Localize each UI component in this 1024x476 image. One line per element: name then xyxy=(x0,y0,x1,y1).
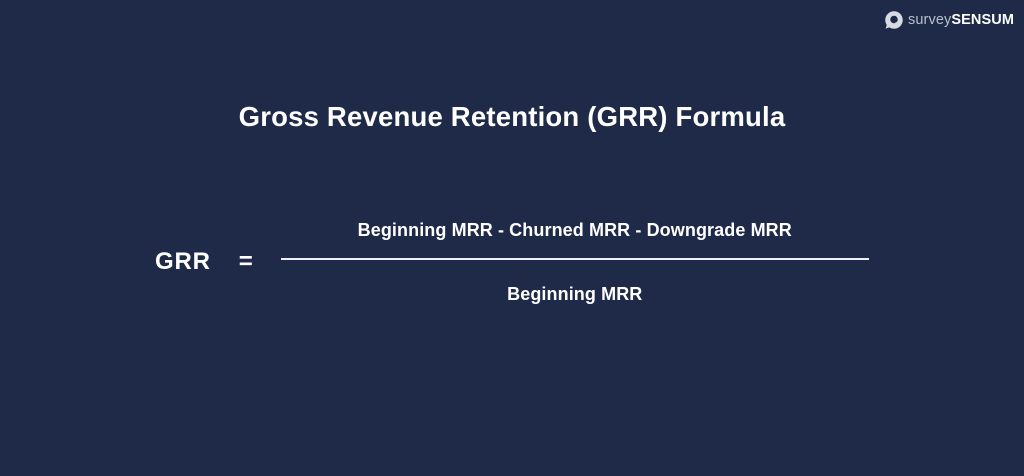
formula-left-side: GRR xyxy=(155,250,211,274)
brand-wordmark-light: survey xyxy=(908,12,951,28)
formula-fraction: Beginning MRR - Churned MRR - Downgrade … xyxy=(281,221,869,303)
formula-equals-sign: = xyxy=(239,250,253,274)
page-title: Gross Revenue Retention (GRR) Formula xyxy=(0,99,1024,135)
formula-denominator: Beginning MRR xyxy=(507,260,642,303)
slide-canvas: surveySENSUM Gross Revenue Retention (GR… xyxy=(0,0,1024,476)
brand-logo: surveySENSUM xyxy=(884,8,1014,32)
grr-formula: GRR = Beginning MRR - Churned MRR - Down… xyxy=(155,206,869,318)
surveysensum-speech-bubble-logo-icon xyxy=(884,10,904,30)
brand-wordmark: surveySENSUM xyxy=(908,13,1014,28)
formula-numerator: Beginning MRR - Churned MRR - Downgrade … xyxy=(358,221,792,258)
brand-wordmark-bold: SENSUM xyxy=(951,12,1014,28)
